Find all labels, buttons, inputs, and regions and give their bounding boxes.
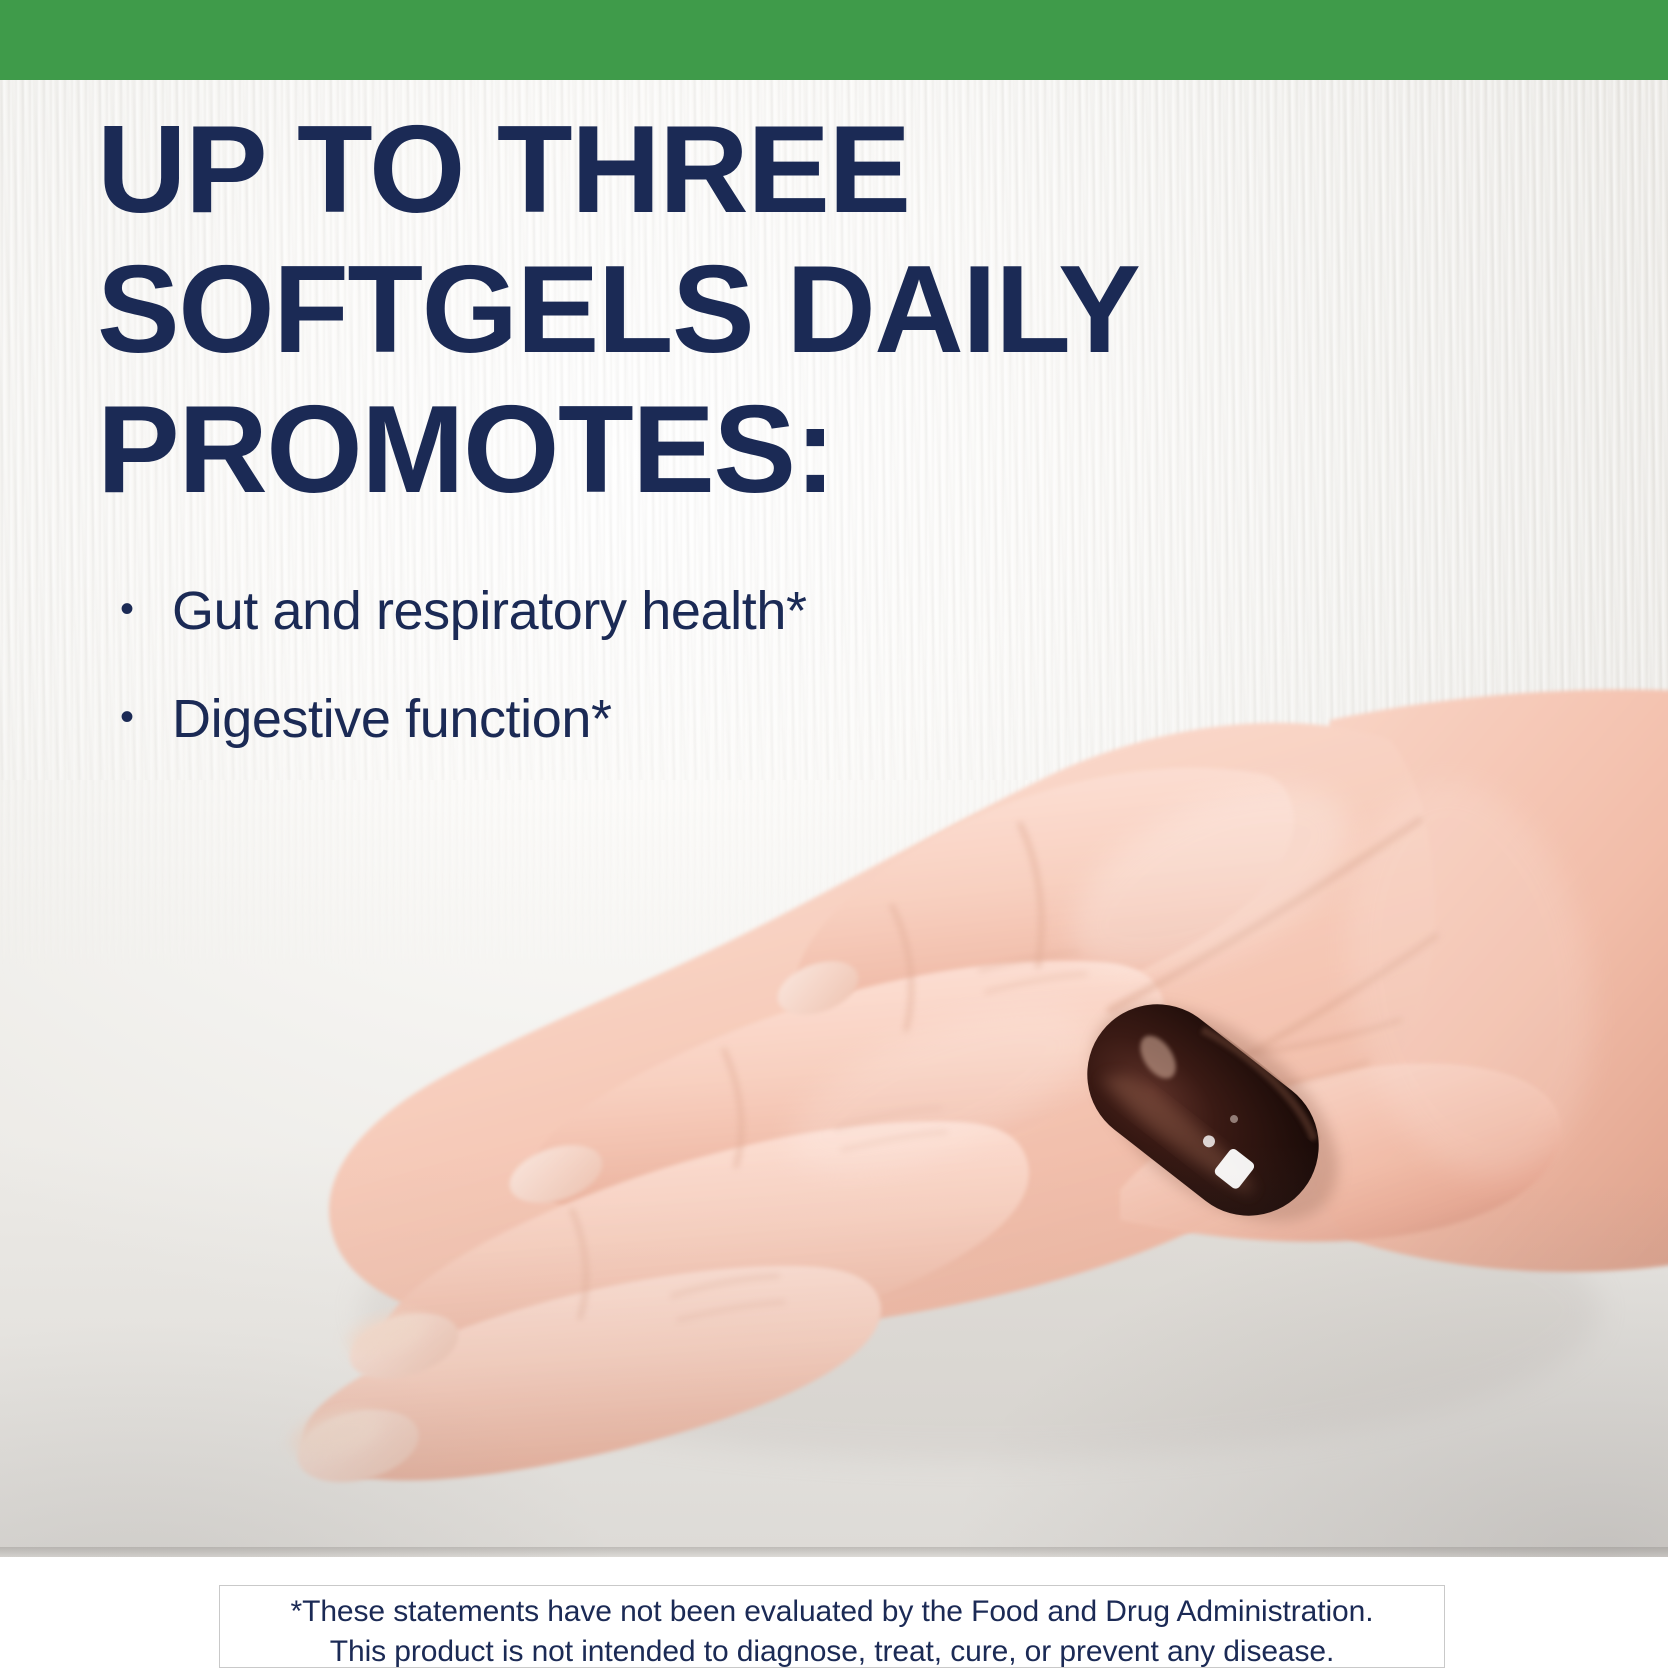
benefit-list-item: • Digestive function* bbox=[120, 688, 1120, 752]
page-title: UP TO THREE SOFTGELS DAILY PROMOTES: bbox=[97, 100, 1217, 520]
bullet-dot-icon: • bbox=[120, 688, 172, 746]
bullet-dot-icon: • bbox=[120, 580, 172, 638]
photo-bottom-edge-shadow bbox=[0, 1547, 1668, 1557]
benefit-list: • Gut and respiratory health* • Digestiv… bbox=[120, 580, 1120, 795]
fda-disclaimer-line-2: This product is not intended to diagnose… bbox=[220, 1632, 1444, 1668]
fda-disclaimer: *These statements have not been evaluate… bbox=[219, 1585, 1445, 1668]
fda-disclaimer-line-1: *These statements have not been evaluate… bbox=[220, 1592, 1444, 1632]
top-green-banner bbox=[0, 0, 1668, 80]
benefit-label: Digestive function* bbox=[172, 688, 612, 752]
benefit-list-item: • Gut and respiratory health* bbox=[120, 580, 1120, 644]
benefit-label: Gut and respiratory health* bbox=[172, 580, 807, 644]
product-infographic: UP TO THREE SOFTGELS DAILY PROMOTES: • G… bbox=[0, 0, 1668, 1668]
